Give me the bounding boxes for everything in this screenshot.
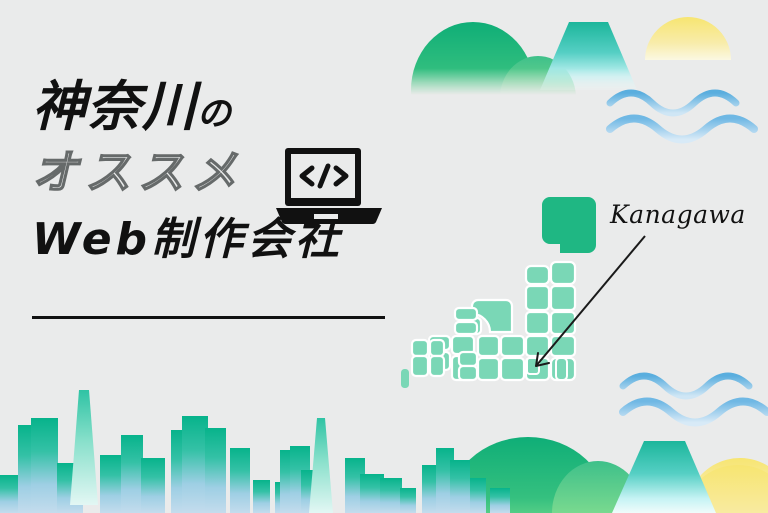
map-region-chugoku xyxy=(455,308,477,334)
map-region-hokkaido xyxy=(542,197,596,253)
city-skyline xyxy=(0,370,768,513)
headline-line-1: 神奈川の xyxy=(32,78,412,138)
mount-fuji-top-right xyxy=(540,22,637,90)
map-region-tohoku xyxy=(526,262,575,334)
laptop-code-icon xyxy=(276,148,382,224)
kanagawa-label: Kanagawa xyxy=(610,200,746,229)
headline-particle: の xyxy=(197,94,231,134)
wave-decor-top-right xyxy=(610,93,754,140)
sun-top-right xyxy=(645,17,731,60)
headline-underline xyxy=(32,316,385,319)
headline-prefecture: 神奈川 xyxy=(32,75,197,138)
banner-canvas: 神奈川の オススメ Web制作会社 Kanagawa xyxy=(0,0,768,513)
japan-map xyxy=(401,197,596,388)
